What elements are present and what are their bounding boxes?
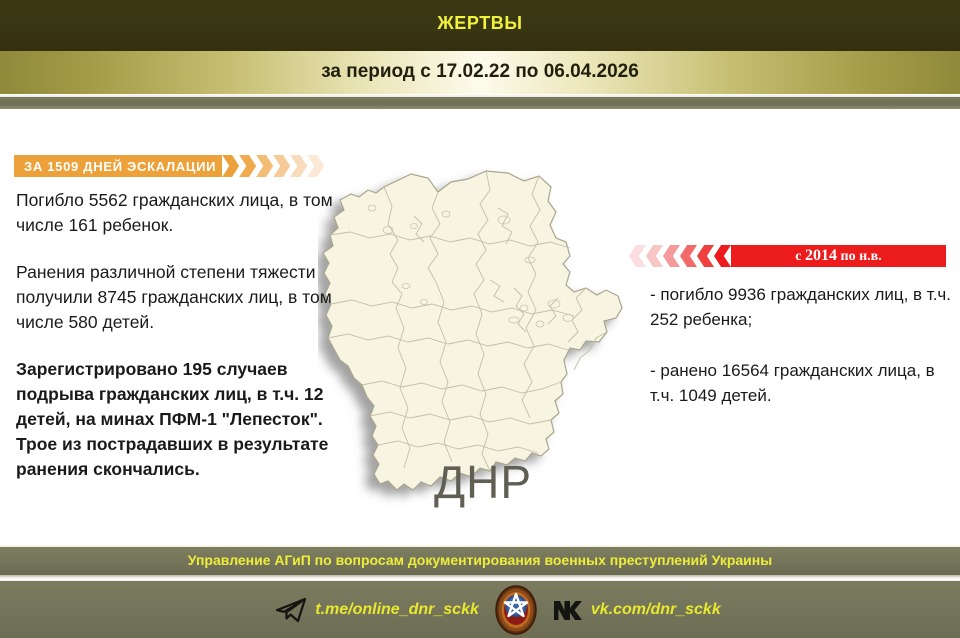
chevron-right-icon [256,155,273,177]
right-paragraph-killed: - погибло 9936 гражданских лиц, в т.ч. 2… [650,282,952,332]
escalation-days-ribbon: ЗА 1509 ДНЕЙ ЭСКАЛАЦИИ [14,155,324,177]
ribbon-prefix: с [795,249,805,264]
vk-icon [553,599,583,621]
since-2014-ribbon: с 2014 по н.в. [629,245,946,267]
chevron-right-icon [307,155,324,177]
chevron-right-icon [273,155,290,177]
sckk-emblem-icon [493,585,539,635]
infographic-poster: ЖЕРТВЫ за период с 17.02.22 по 06.04.202… [0,0,960,638]
chevron-left-icon [714,245,731,267]
left-paragraph-killed: Погибло 5562 гражданских лица, в том чис… [16,188,334,238]
since-2014-ribbon-body: с 2014 по н.в. [731,245,946,267]
ribbon-suffix: по н.в. [837,249,882,264]
since-2014-ribbon-label: с 2014 по н.в. [795,247,881,265]
telegram-link-label: t.me/online_dnr_sckk [315,601,479,619]
chevron-left-icon [663,245,680,267]
header-olive-strip [0,97,960,109]
escalation-ribbon-label: ЗА 1509 ДНЕЙ ЭСКАЛАЦИИ [24,159,216,174]
chevron-right-icon [222,155,239,177]
page-title: ЖЕРТВЫ [0,13,960,34]
vk-link[interactable]: vk.com/dnr_sckk [553,599,721,621]
left-paragraph-mines: Зарегистрировано 195 случаев подрыва гра… [16,357,334,482]
header-subtitle-period: за период с 17.02.22 по 06.04.2026 [0,61,960,83]
chevron-left-icon [629,245,646,267]
chevron-right-icon [290,155,307,177]
escalation-ribbon-body: ЗА 1509 ДНЕЙ ЭСКАЛАЦИИ [14,155,222,177]
telegram-icon [275,597,307,623]
chevron-left-icon [697,245,714,267]
left-paragraph-wounded: Ранения различной степени тяжести получи… [16,260,334,335]
chevron-right-icon [239,155,256,177]
footer-links-row: t.me/online_dnr_sckk vk.com/dnr_sckk [0,581,960,638]
left-statistics-text: Погибло 5562 гражданских лица, в том чис… [16,188,334,482]
vk-link-label: vk.com/dnr_sckk [591,601,721,619]
chevron-left-icon [646,245,663,267]
right-paragraph-wounded: - ранено 16564 гражданских лица, в т.ч. … [650,358,952,408]
map-donetsk-region: ДНР [318,168,648,538]
right-statistics-text: - погибло 9936 гражданских лиц, в т.ч. 2… [650,282,952,408]
telegram-link[interactable]: t.me/online_dnr_sckk [275,597,479,623]
footer-organization-label: Управление АГиП по вопросам документиров… [0,552,960,568]
ribbon-year: 2014 [805,247,837,264]
chevron-left-icon [680,245,697,267]
